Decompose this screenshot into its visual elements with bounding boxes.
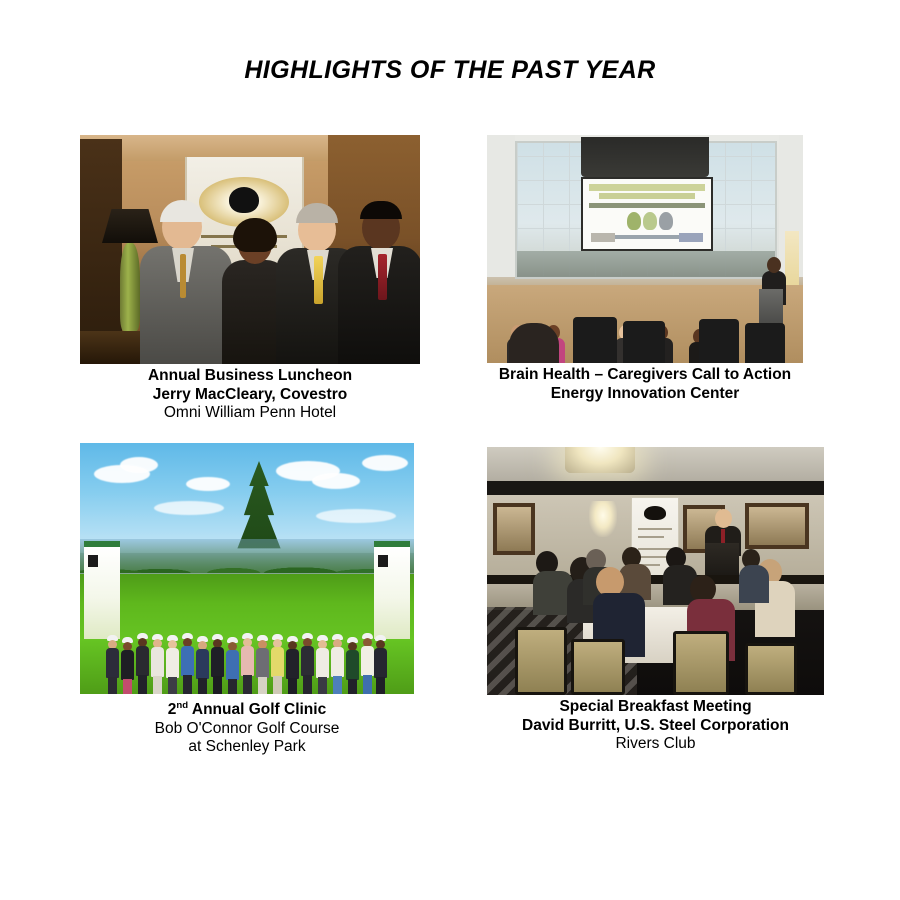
golf-participants-group: [106, 551, 388, 637]
caption-line-1: Annual Business Luncheon: [80, 367, 420, 386]
caption-line-1: 2nd Annual Golf Clinic: [80, 697, 414, 720]
foreground-attendee: [509, 323, 559, 363]
photo-golf-clinic: [80, 443, 414, 694]
caption-line-2: Energy Innovation Center: [483, 385, 807, 404]
ordinal-suffix: nd: [176, 700, 188, 711]
banquet-chair: [745, 643, 797, 695]
ceiling: [487, 447, 824, 481]
foreground-chair-2: [623, 321, 665, 363]
wall-picture-1: [493, 503, 535, 555]
foreground-chair-4: [745, 323, 785, 363]
banquet-chair: [571, 639, 625, 695]
highlight-card-annual-business-luncheon: Annual Business Luncheon Jerry MacCleary…: [80, 135, 420, 423]
attendee-4: [338, 206, 420, 364]
caption-line-2: Bob O'Connor Golf Course: [80, 720, 414, 739]
chandelier-icon: [565, 447, 635, 473]
caption-annual-business-luncheon: Annual Business Luncheon Jerry MacCleary…: [80, 367, 420, 423]
highlight-card-golf-clinic: 2nd Annual Golf Clinic Bob O'Connor Golf…: [80, 443, 414, 757]
caption-line-2: Jerry MacCleary, Covestro: [80, 386, 420, 405]
banquet-chair: [515, 627, 567, 695]
pillar-left: [487, 135, 515, 277]
skyline: [517, 251, 775, 277]
photo-brain-health-panel: [487, 135, 803, 363]
photo-special-breakfast-meeting: [487, 447, 824, 695]
banquet-chair: [673, 631, 729, 695]
caption-line-3: at Schenley Park: [80, 738, 414, 757]
caption-line-1: Special Breakfast Meeting: [477, 698, 834, 717]
caption-breakfast-meeting: Special Breakfast Meeting David Burritt,…: [477, 698, 834, 754]
highlights-page: HIGHLIGHTS OF THE PAST YEAR: [0, 0, 900, 900]
wall-picture-3: [745, 503, 809, 549]
wall-sconce-light: [589, 501, 617, 537]
ceiling-band: [487, 481, 824, 495]
foreground-chair-1: [573, 317, 617, 363]
projection-screen: [581, 177, 713, 251]
caption-golf-clinic: 2nd Annual Golf Clinic Bob O'Connor Golf…: [80, 697, 414, 757]
page-title: HIGHLIGHTS OF THE PAST YEAR: [0, 56, 900, 85]
photo-annual-business-luncheon: [80, 135, 420, 364]
caption-line-1-rest: Annual Golf Clinic: [188, 701, 326, 718]
highlight-card-breakfast-meeting: Special Breakfast Meeting David Burritt,…: [487, 447, 824, 754]
audience-member-right: [739, 549, 769, 601]
highlight-card-brain-health: Brain Health – Caregivers Call to Action…: [487, 135, 803, 403]
screen-valance: [581, 137, 709, 177]
attendee-1: [136, 204, 232, 364]
caption-brain-health: Brain Health – Caregivers Call to Action…: [483, 366, 807, 403]
caption-line-2: David Burritt, U.S. Steel Corporation: [477, 717, 834, 736]
caption-line-1: Brain Health – Caregivers Call to Action: [483, 366, 807, 385]
caption-line-3: Omni William Penn Hotel: [80, 404, 420, 423]
foreground-chair-3: [699, 319, 739, 363]
caption-line-3: Rivers Club: [477, 735, 834, 754]
side-banner: [785, 231, 799, 287]
